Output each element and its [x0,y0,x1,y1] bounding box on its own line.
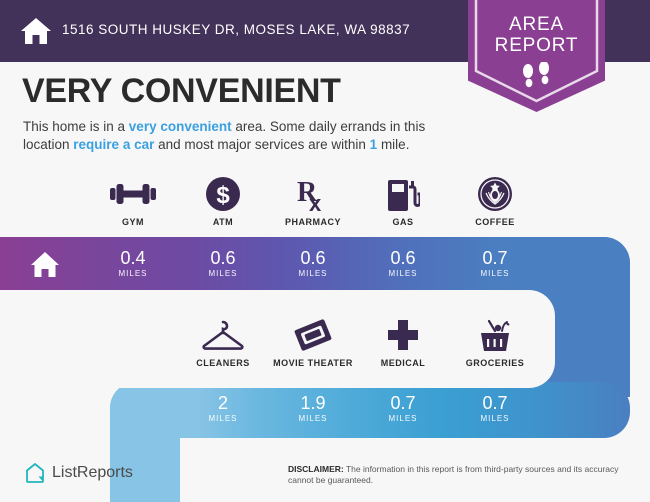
distance-unit: MILES [358,413,448,424]
medical-cross-icon [358,315,448,355]
ticket-icon [268,315,358,355]
distance-value: 0.7 [450,393,540,413]
amenity-label: MOVIE THEATER [268,358,358,368]
listreports-wordmark: ListReports [52,464,133,482]
distance-value: 1.9 [268,393,358,413]
property-address: 1516 SOUTH HUSKEY DR, MOSES LAKE, WA 988… [62,22,410,37]
svg-text:x: x [309,191,322,212]
amenity-movie-theater: MOVIE THEATER [268,315,358,368]
svg-text:$: $ [216,182,230,209]
amenity-pharmacy: R x PHARMACY [268,174,358,227]
rx-icon: R x [268,174,358,214]
amenity-medical: MEDICAL [358,315,448,368]
distance-unit: MILES [450,413,540,424]
amenity-label: PHARMACY [268,217,358,227]
amenity-gym: GYM [88,174,178,227]
summary-highlight-1: very convenient [129,119,232,134]
distance-cell-atm: 0.6 MILES [178,248,268,279]
summary-text: This home is in a very convenient area. … [23,118,463,153]
disclaimer-label: DISCLAIMER: [288,464,344,474]
distance-value: 0.6 [178,248,268,268]
grocery-basket-icon [450,315,540,355]
amenity-icon-row-1: GYM $ ATM R x PHARMACY [0,174,650,236]
amenity-atm: $ ATM [178,174,268,227]
summary-part-1: This home is in a [23,119,129,134]
house-icon [20,15,52,47]
badge-line-1: AREA [468,14,605,35]
fuel-pump-icon [358,174,448,214]
amenity-label: GAS [358,217,448,227]
distance-value: 0.4 [88,248,178,268]
page-title: VERY CONVENIENT [22,72,341,111]
distance-cell-medical: 0.7 MILES [358,393,448,424]
distance-cell-groceries: 0.7 MILES [450,393,540,424]
amenity-label: MEDICAL [358,358,448,368]
distance-unit: MILES [450,268,540,279]
distance-unit: MILES [178,413,268,424]
amenity-label: GROCERIES [450,358,540,368]
distance-unit: MILES [358,268,448,279]
summary-part-3: and most major services are within [154,137,369,152]
home-marker-icon [30,250,60,280]
amenity-label: GYM [88,217,178,227]
distance-unit: MILES [268,268,358,279]
amenity-label: CLEANERS [178,358,268,368]
amenity-cleaners: CLEANERS [178,315,268,368]
hanger-icon [178,315,268,355]
distance-cell-pharmacy: 0.6 MILES [268,248,358,279]
distance-value: 0.6 [358,248,448,268]
summary-part-4: mile. [377,137,409,152]
amenity-gas: GAS [358,174,448,227]
amenity-label: ATM [178,217,268,227]
distance-unit: MILES [178,268,268,279]
listreports-logo: ListReports [25,462,133,484]
distance-cell-movie-theater: 1.9 MILES [268,393,358,424]
amenity-label: COFFEE [450,217,540,227]
distance-unit: MILES [268,413,358,424]
distance-value: 0.6 [268,248,358,268]
distance-cell-gas: 0.6 MILES [358,248,448,279]
distance-value: 0.7 [358,393,448,413]
distance-unit: MILES [88,268,178,279]
summary-highlight-2: require a car [73,137,154,152]
listreports-house-icon [25,462,45,484]
disclaimer-text: DISCLAIMER: The information in this repo… [288,464,638,486]
distance-cell-gym: 0.4 MILES [88,248,178,279]
distance-cell-coffee: 0.7 MILES [450,248,540,279]
distance-value: 0.7 [450,248,540,268]
badge-title: AREA REPORT [468,14,605,56]
area-report-infographic: 1516 SOUTH HUSKEY DR, MOSES LAKE, WA 988… [0,0,650,502]
dollar-circle-icon: $ [178,174,268,214]
starbucks-icon [450,174,540,214]
dumbbell-icon [88,174,178,214]
badge-line-2: REPORT [468,35,605,56]
footprints-icon [468,62,605,97]
amenity-coffee: COFFEE [450,174,540,227]
amenity-icon-row-2: CLEANERS MOVIE THEATER MEDICAL [0,315,650,377]
amenity-groceries: GROCERIES [450,315,540,368]
distance-value: 2 [178,393,268,413]
distance-cell-cleaners: 2 MILES [178,393,268,424]
